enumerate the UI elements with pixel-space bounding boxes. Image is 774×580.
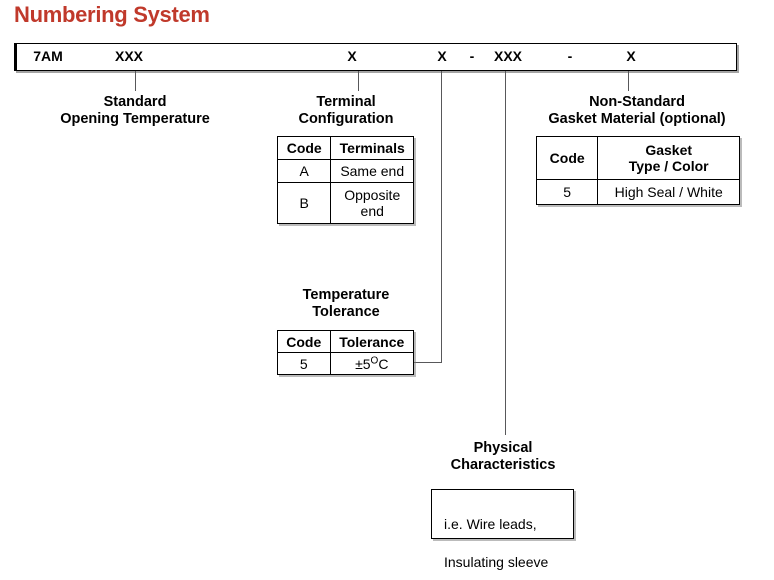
pn-segment-opening-temperature: XXX	[115, 48, 143, 64]
terminal-table-header-code: Code	[278, 137, 331, 160]
caption-line-1: Physical	[451, 440, 556, 457]
terminal-configuration-table: Code Terminals A Same end B Opposite end	[277, 136, 414, 224]
caption-terminal-configuration: Terminal Configuration	[298, 94, 393, 128]
leader-line-gasket-material	[628, 71, 629, 91]
leader-line-physical-characteristics	[505, 71, 506, 435]
caption-line-2: Configuration	[298, 111, 393, 128]
caption-line-1: Non-Standard	[548, 94, 725, 111]
pn-dash-1: -	[470, 48, 475, 64]
tolerance-value-prefix: ±5	[355, 356, 370, 372]
tolerance-value-suffix: C	[378, 356, 388, 372]
gasket-header-line-2: Type / Color	[598, 158, 739, 174]
tolerance-table-value-5: ±5OC	[330, 353, 413, 375]
tolerance-table-header-code: Code	[278, 331, 331, 353]
caption-temperature-tolerance: Temperature Tolerance	[303, 287, 390, 321]
terminal-table-code-b: B	[278, 183, 331, 224]
table-header-row: Code Tolerance	[278, 331, 414, 353]
terminal-table-terminals-b: Opposite end	[331, 183, 414, 224]
terminal-table-code-a: A	[278, 160, 331, 183]
table-header-row: Code Gasket Type / Color	[537, 137, 740, 180]
caption-line-1: Temperature	[303, 287, 390, 304]
pn-segment-physical-characteristics: XXX	[494, 48, 522, 64]
numbering-system-diagram: Numbering System 7AM XXX X X - XXX - X S…	[0, 0, 774, 580]
part-number-bar: 7AM XXX X X - XXX - X	[14, 43, 737, 71]
physical-characteristics-box: i.e. Wire leads, Insulating sleeve	[431, 489, 574, 539]
caption-line-2: Tolerance	[303, 304, 390, 321]
leader-line-opening-temperature	[135, 71, 136, 91]
table-row: B Opposite end	[278, 183, 414, 224]
gasket-material-table: Code Gasket Type / Color 5 High Seal / W…	[536, 136, 740, 205]
pn-segment-temperature-tolerance: X	[437, 48, 446, 64]
pn-segment-terminal-config: X	[347, 48, 356, 64]
caption-non-standard-gasket: Non-Standard Gasket Material (optional)	[548, 94, 725, 128]
pn-segment-prefix: 7AM	[33, 48, 63, 64]
pn-segment-gasket-material: X	[626, 48, 635, 64]
leader-line-temperature-tolerance-horizontal	[412, 362, 442, 363]
pn-dash-2: -	[568, 48, 573, 64]
table-header-row: Code Terminals	[278, 137, 414, 160]
tolerance-table-header-tolerance: Tolerance	[330, 331, 413, 353]
tolerance-table-code-5: 5	[278, 353, 331, 375]
physical-characteristics-line-2: Insulating sleeve	[444, 553, 573, 572]
caption-line-2: Characteristics	[451, 457, 556, 474]
leader-line-terminal-config	[358, 71, 359, 91]
caption-line-2: Gasket Material (optional)	[548, 111, 725, 128]
caption-line-1: Standard	[60, 94, 210, 111]
gasket-table-header-code: Code	[537, 137, 598, 180]
caption-line-1: Terminal	[298, 94, 393, 111]
caption-physical-characteristics: Physical Characteristics	[451, 440, 556, 474]
caption-line-2: Opening Temperature	[60, 111, 210, 128]
gasket-table-type-color-5: High Seal / White	[598, 180, 740, 205]
table-row: 5 High Seal / White	[537, 180, 740, 205]
gasket-table-header-type-color: Gasket Type / Color	[598, 137, 740, 180]
terminal-table-terminals-a: Same end	[331, 160, 414, 183]
caption-standard-opening-temperature: Standard Opening Temperature	[60, 94, 210, 128]
physical-characteristics-line-1: i.e. Wire leads,	[444, 515, 573, 534]
table-row: A Same end	[278, 160, 414, 183]
temperature-tolerance-table: Code Tolerance 5 ±5OC	[277, 330, 414, 375]
leader-line-temperature-tolerance-vertical	[441, 71, 442, 363]
table-row: 5 ±5OC	[278, 353, 414, 375]
gasket-header-line-1: Gasket	[598, 142, 739, 158]
page-title: Numbering System	[14, 2, 210, 28]
gasket-table-code-5: 5	[537, 180, 598, 205]
terminal-table-header-terminals: Terminals	[331, 137, 414, 160]
